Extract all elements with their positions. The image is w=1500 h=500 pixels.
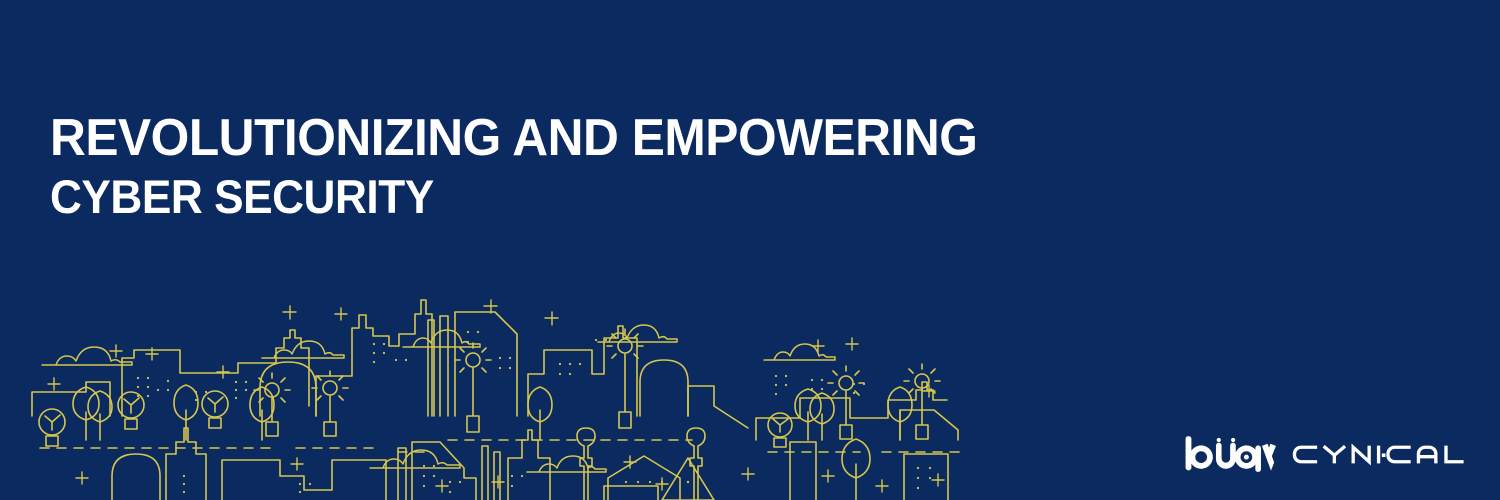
cynical-logo[interactable] <box>1290 440 1486 469</box>
sunburst-lamp <box>455 343 491 432</box>
sunburst-lamp <box>312 371 348 436</box>
ground-line-upper <box>40 440 960 452</box>
tree-group-back <box>73 385 912 440</box>
sparkle-star-group-front <box>76 456 944 492</box>
headline-line-1: REVOLUTIONIZING AND EMPOWERING <box>50 108 1101 168</box>
sunburst-lamp <box>254 373 290 436</box>
shop-front-detail <box>604 486 658 500</box>
sparkle-star-group-back <box>48 300 935 397</box>
cloud-group-back <box>42 325 835 365</box>
building-group-industrial <box>398 430 550 500</box>
street-lamp-group-back <box>39 329 940 447</box>
building-row-back <box>32 300 748 428</box>
sunburst-lamp <box>607 329 643 428</box>
building-row-front <box>112 428 948 500</box>
headline-line-2: CYBER SECURITY <box>50 168 1084 226</box>
building-row-back-right <box>756 382 958 440</box>
city-skyline-line-art <box>0 280 960 500</box>
sunburst-lamp <box>904 364 940 439</box>
bulb-lamp <box>118 392 144 429</box>
bugv-logo[interactable] <box>1184 436 1276 472</box>
bulb-lamp <box>768 413 792 447</box>
logo-lockup <box>1184 436 1486 472</box>
sunburst-lamp <box>828 366 864 439</box>
window-dot-group-back <box>138 332 864 400</box>
bulb-lamp <box>39 409 65 446</box>
warning-triangle-icon <box>662 458 714 500</box>
page-title: REVOLUTIONIZING AND EMPOWERING CYBER SEC… <box>50 108 1150 226</box>
cloud-group-front <box>370 450 606 472</box>
hero-banner: REVOLUTIONIZING AND EMPOWERING CYBER SEC… <box>0 0 1500 500</box>
window-dot-group-front <box>184 466 930 492</box>
bulb-lamp <box>202 391 228 428</box>
